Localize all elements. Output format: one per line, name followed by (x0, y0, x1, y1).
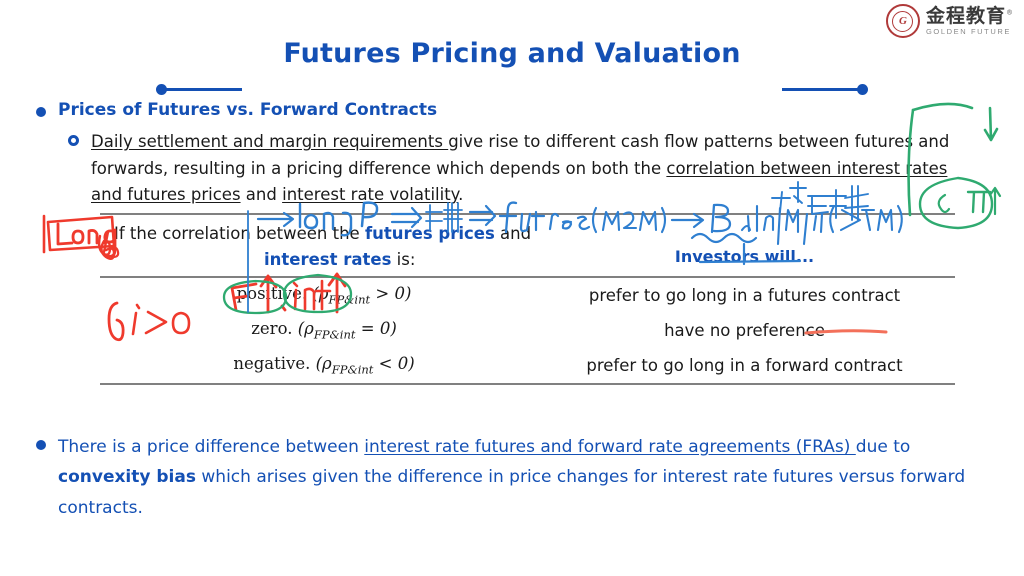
logo-seal-icon: G (886, 4, 920, 38)
header-pre: If the correlation between the (114, 224, 365, 243)
table-cell-condition: negative. (ρFP&int < 0) (100, 354, 534, 376)
bullet-heading: Prices of Futures vs. Forward Contracts (36, 100, 437, 120)
condition-label: zero. (251, 319, 292, 338)
logo-wordmark: 金程教育® GOLDEN FUTURE (926, 7, 1014, 36)
condition-relation: > 0) (370, 284, 411, 303)
logo-name-cn: 金程教育® (926, 7, 1014, 26)
green-down-arrow (985, 108, 997, 140)
phrase-and: and (241, 185, 283, 204)
title-rule-right (782, 88, 858, 91)
phrase-convexity-bias: convexity bias (58, 467, 196, 487)
table-header-right: Investors will... (534, 221, 955, 272)
table-header-left: If the correlation between the futures p… (100, 221, 534, 272)
table-row: positive. (ρFP&int > 0) prefer to go lon… (100, 278, 955, 313)
table-cell-condition: positive. (ρFP&int > 0) (100, 284, 534, 306)
table-rule-bottom (100, 383, 955, 385)
correlation-table: If the correlation between the futures p… (100, 213, 955, 385)
bullet-closing: There is a price difference between inte… (36, 432, 996, 523)
bullet-dot-icon (36, 440, 46, 450)
registered-mark: ® (1006, 8, 1014, 16)
red-letter-L (58, 224, 72, 244)
logo-name-en: GOLDEN FUTURE (926, 28, 1014, 36)
table-cell-outcome: have no preference (534, 321, 955, 340)
slide-canvas: G 金程教育® GOLDEN FUTURE Futures Pricing an… (0, 0, 1024, 576)
condition-relation: = 0) (356, 319, 397, 338)
condition-subscript: FP&int (332, 363, 374, 377)
phrase-period: . (458, 185, 463, 204)
condition-label: negative. (233, 354, 310, 373)
bullet-heading-label: Prices of Futures vs. Forward Contracts (58, 100, 437, 120)
condition-label: positive. (237, 284, 307, 303)
page-title: Futures Pricing and Valuation (0, 38, 1024, 69)
table-header-row: If the correlation between the futures p… (100, 215, 955, 276)
bullet-ring-icon (68, 135, 79, 146)
slide-title-row: Futures Pricing and Valuation (0, 38, 1024, 74)
bullet-dot-icon (36, 107, 46, 117)
table-cell-condition: zero. (ρFP&int = 0) (100, 319, 534, 341)
bullet-closing-text: There is a price difference between inte… (58, 432, 996, 523)
green-pi-uparrow (990, 188, 1000, 214)
closing-due-to: due to (856, 437, 911, 457)
title-dot-right-icon (857, 84, 868, 95)
red-letter-o (73, 231, 83, 243)
phrase-daily-settlement: Daily settlement and margin requirements (91, 132, 448, 151)
closing-pre: There is a price difference between (58, 437, 364, 457)
table-row: zero. (ρFP&int = 0) have no preference (100, 313, 955, 348)
table-row: negative. (ρFP&int < 0) prefer to go lon… (100, 348, 955, 383)
title-rule-left (166, 88, 242, 91)
logo-monogram: G (892, 11, 913, 32)
header-interest-rates: interest rates (264, 250, 391, 269)
table-cell-outcome: prefer to go long in a forward contract (534, 356, 955, 375)
header-futures-prices: futures prices (365, 224, 495, 243)
condition-relation: < 0) (373, 354, 414, 373)
condition-rho: (ρ (316, 354, 332, 373)
bullet-sub-text: Daily settlement and margin requirements… (91, 129, 971, 209)
header-mid: and (495, 224, 531, 243)
condition-subscript: FP&int (328, 293, 370, 307)
condition-subscript: FP&int (314, 328, 356, 342)
table-cell-outcome: prefer to go long in a futures contract (534, 286, 955, 305)
condition-rho: (ρ (312, 284, 328, 303)
phrase-volatility: interest rate volatility (282, 185, 458, 204)
brand-logo: G 金程教育® GOLDEN FUTURE (886, 4, 1014, 38)
header-post: is: (391, 250, 415, 269)
bullet-sub-paragraph: Daily settlement and margin requirements… (68, 129, 978, 209)
condition-rho: (ρ (298, 319, 314, 338)
phrase-fras: interest rate futures and forward rate a… (364, 437, 856, 457)
red-letter-n (89, 230, 97, 243)
green-top-hook (913, 104, 972, 110)
